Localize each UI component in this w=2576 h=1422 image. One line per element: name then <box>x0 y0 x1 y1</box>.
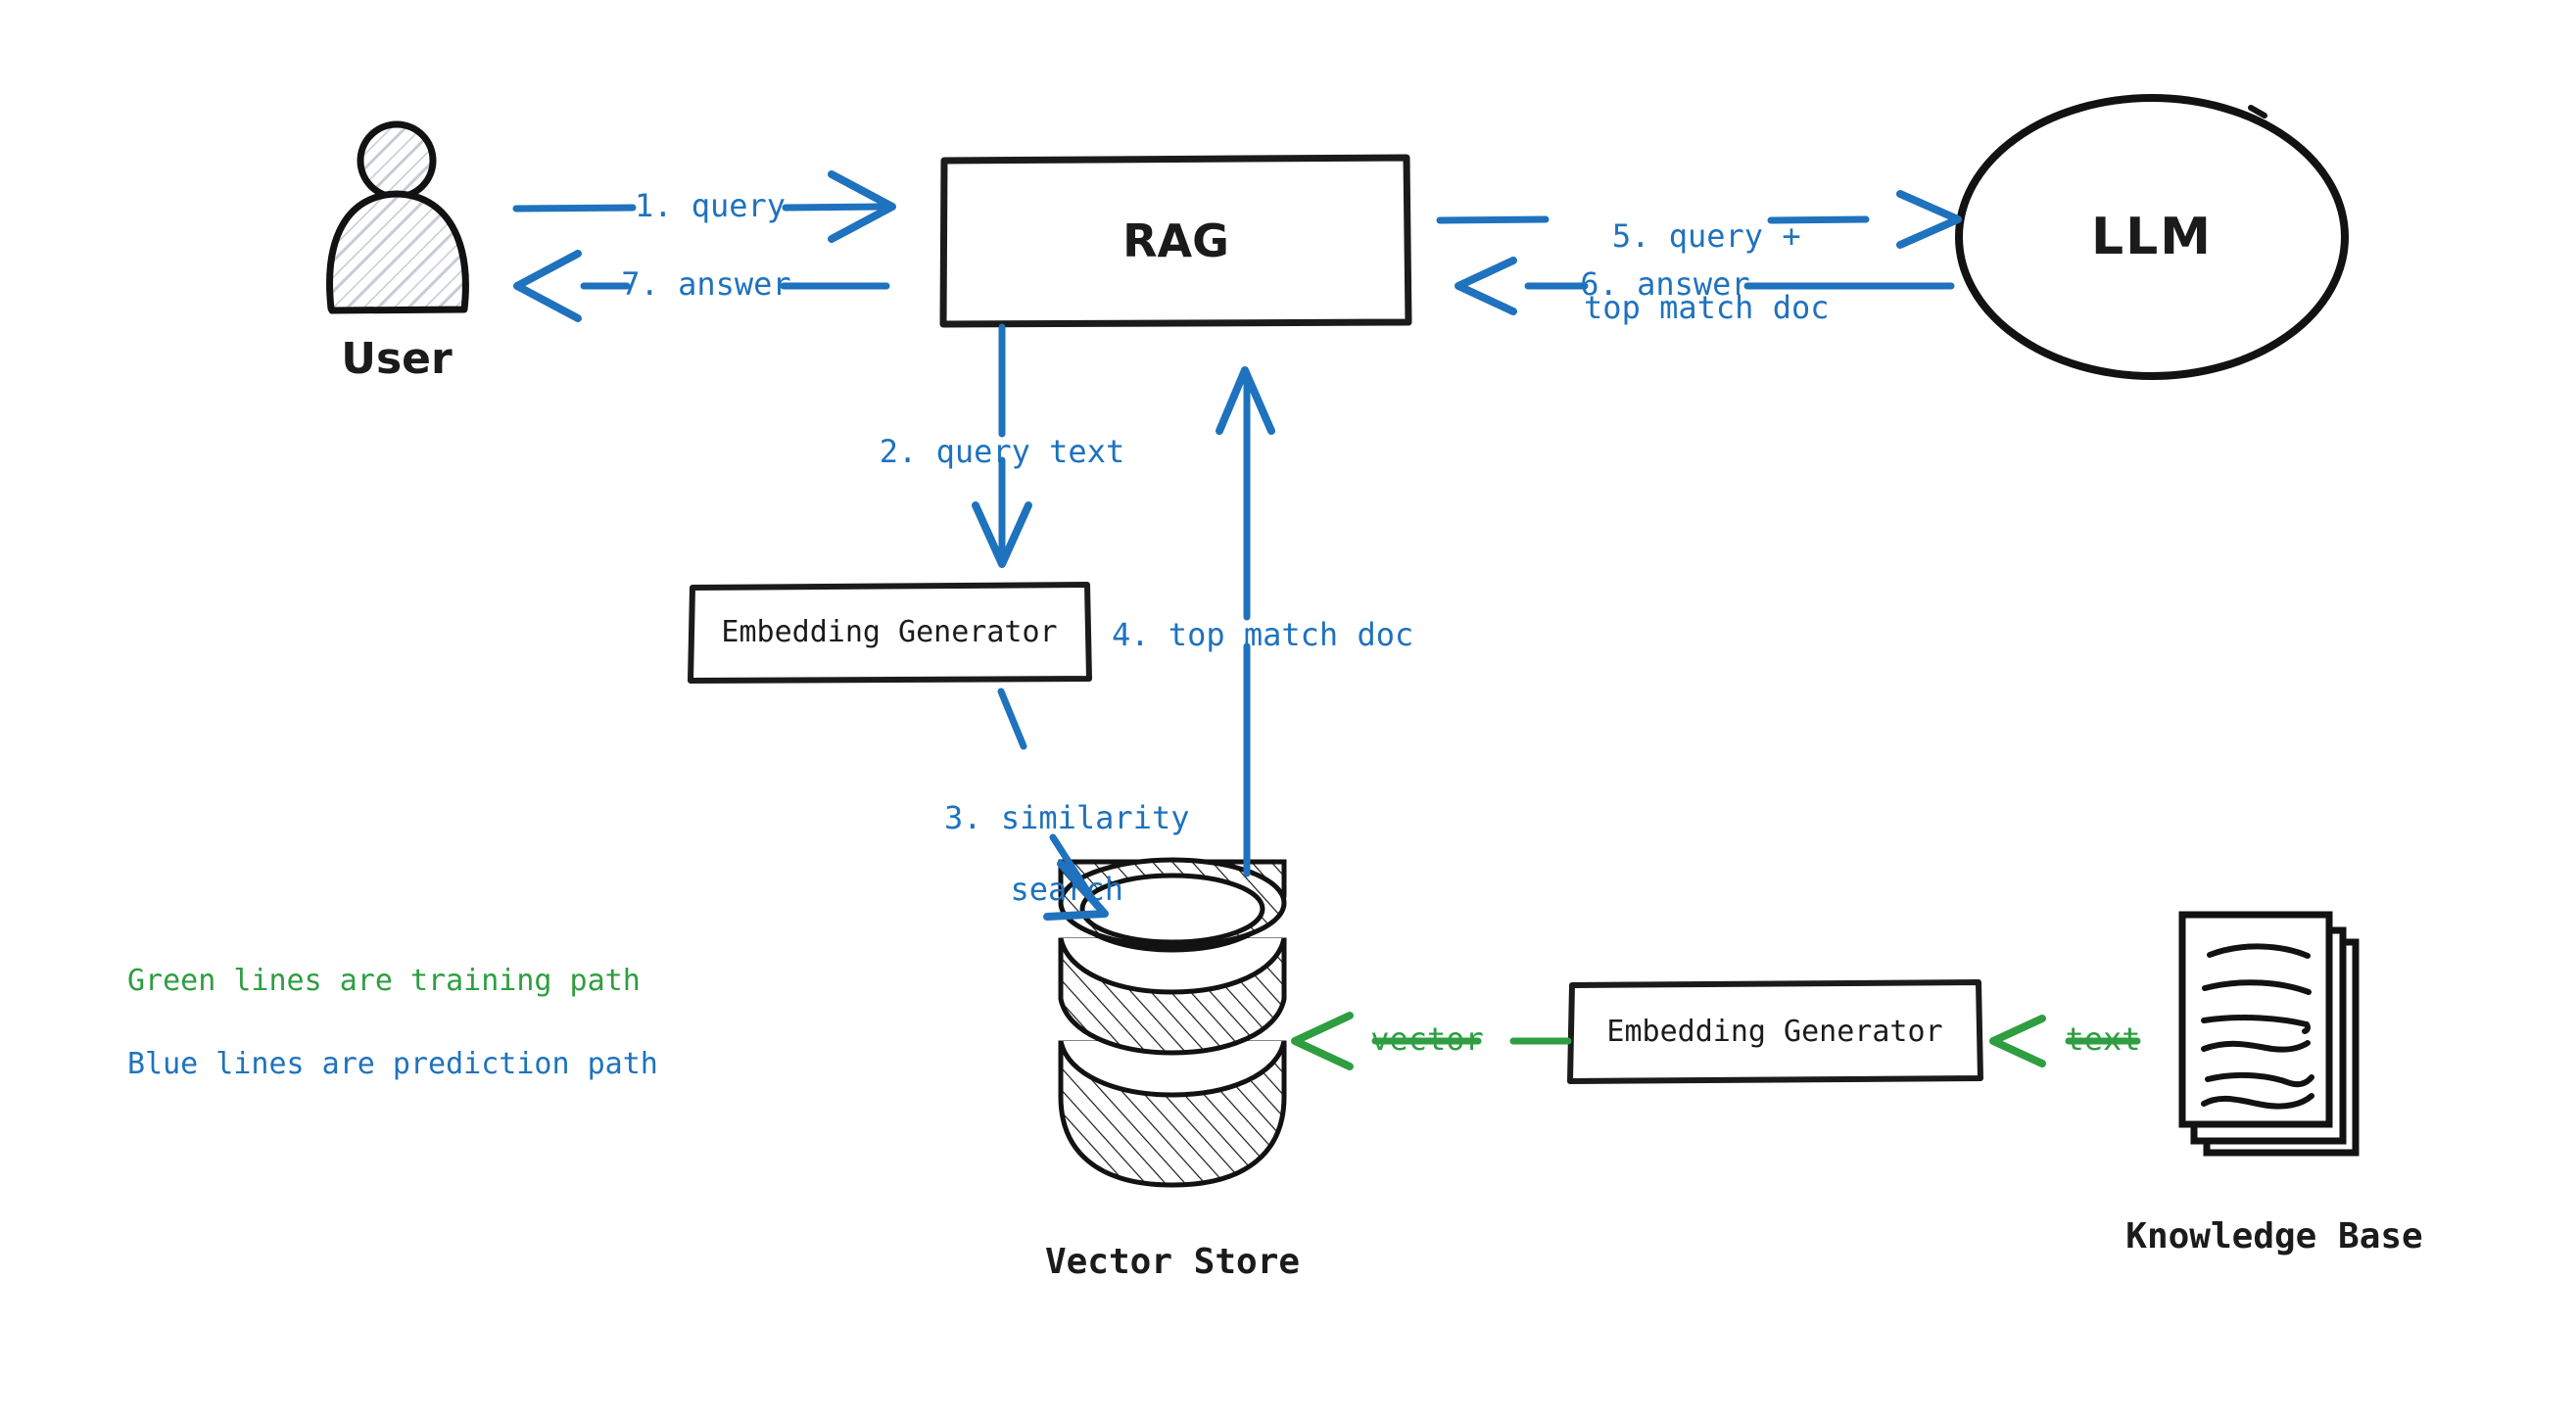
legend-training-path: Green lines are training path <box>127 964 641 998</box>
knowledge-base-label: Knowledge Base <box>2125 1216 2422 1256</box>
edge-5-query-top-match-doc-label: 5. query + top match doc <box>1547 182 1830 326</box>
embedding-generator-query-label: Embedding Generator <box>691 585 1088 680</box>
legend-prediction-path: Blue lines are prediction path <box>127 1047 658 1081</box>
llm-node-label: LLM <box>1959 168 2345 306</box>
edge-vector-label: vector <box>1370 1021 1484 1058</box>
edge-text-label: text <box>2065 1021 2140 1058</box>
user-person-icon <box>330 124 466 310</box>
edge-2-query-text-label: 2. query text <box>880 434 1124 470</box>
edge-1-query-label: 1. query <box>635 188 786 224</box>
edge-7-answer-label: 7. answer <box>621 266 790 303</box>
edge-3-similarity-search-label: 3. similarity search <box>907 764 1190 908</box>
user-node-label: User <box>341 334 452 384</box>
edge-5-line-1: 5. query + <box>1612 217 1801 255</box>
edge-4-top-match-doc-label: 4. top match doc <box>1112 617 1413 653</box>
database-cylinder-icon[interactable] <box>1061 860 1284 1185</box>
embedding-generator-ingest-label: Embedding Generator <box>1570 982 1980 1080</box>
edge-3-line-2: search <box>1010 871 1123 908</box>
edge-3-line-1: 3. similarity <box>944 799 1189 836</box>
rag-node-label: RAG <box>943 159 1408 323</box>
vector-store-label: Vector Store <box>1045 1242 1300 1282</box>
document-stack-icon[interactable] <box>2182 915 2356 1153</box>
edge-6-answer-label: 6. answer <box>1580 266 1749 303</box>
